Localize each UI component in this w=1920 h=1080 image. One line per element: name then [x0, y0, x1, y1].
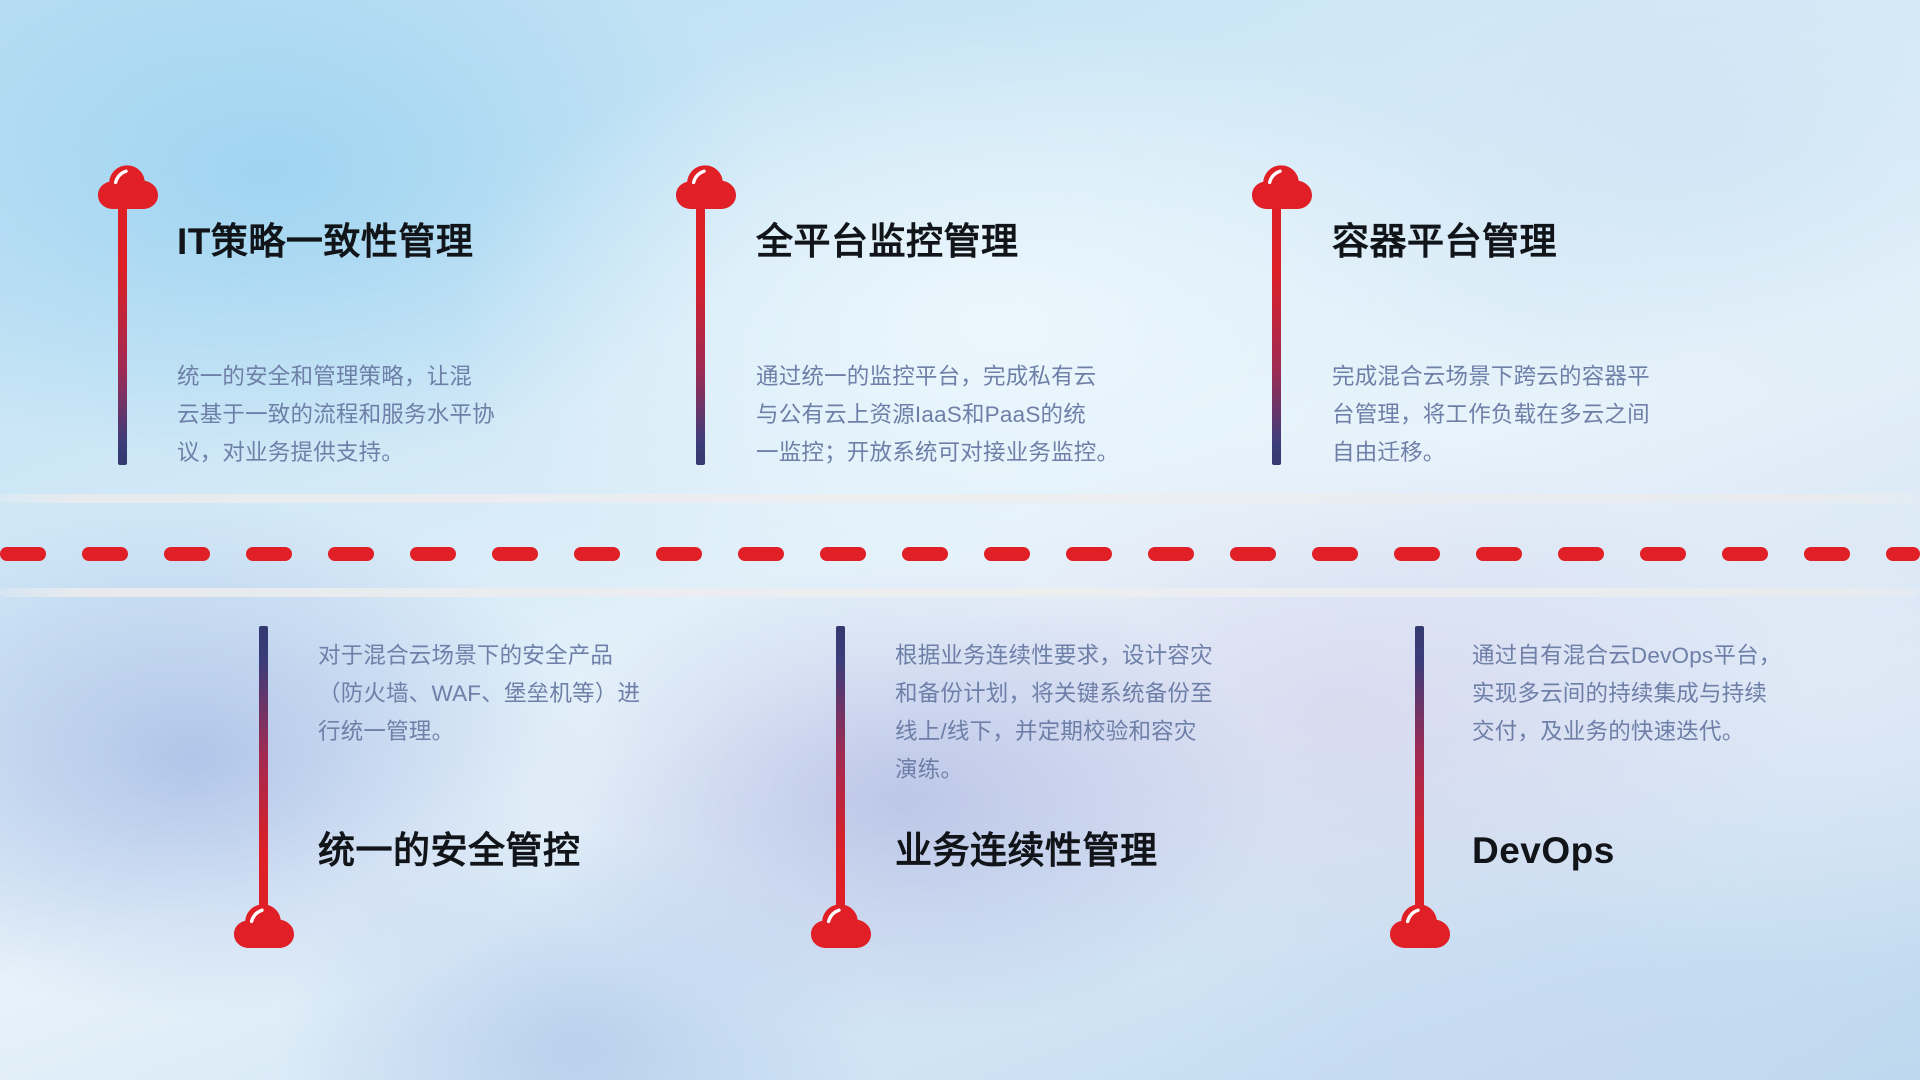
divider-dash-segment [164, 547, 210, 561]
infographic-canvas: IT策略一致性管理 统一的安全和管理策略，让混 云基于一致的流程和服务水平协 议… [0, 0, 1920, 1080]
cloud-icon [1250, 160, 1314, 210]
divider-dash-segment [1558, 547, 1604, 561]
cloud-icon [1388, 899, 1452, 949]
divider-dash-segment [1312, 547, 1358, 561]
card-title: 业务连续性管理 [895, 832, 1158, 869]
card-title: 容器平台管理 [1332, 223, 1557, 260]
divider-dash-segment [410, 547, 456, 561]
divider-dash-segment [738, 547, 784, 561]
divider-dash-segment [1066, 547, 1112, 561]
card-title: DevOps [1472, 832, 1615, 869]
divider-dash-segment [1722, 547, 1768, 561]
divider-dash-segment [246, 547, 292, 561]
card-title: 统一的安全管控 [318, 832, 581, 869]
connector-pole [118, 203, 127, 465]
divider-dash-segment [82, 547, 128, 561]
connector-pole [1415, 626, 1424, 916]
divider-line-top [0, 494, 1920, 503]
divider-dash-segment [984, 547, 1030, 561]
connector-pole [696, 203, 705, 465]
connector-pole [836, 626, 845, 916]
card-title: IT策略一致性管理 [177, 223, 473, 260]
cloud-icon [809, 899, 873, 949]
divider-dash-segment [1476, 547, 1522, 561]
connector-pole [1272, 203, 1281, 465]
card-body: 完成混合云场景下跨云的容器平 台管理，将工作负载在多云之间 自由迁移。 [1332, 358, 1772, 472]
divider-dash-segment [574, 547, 620, 561]
card-body: 通过自有混合云DevOps平台， 实现多云间的持续集成与持续 交付，及业务的快速… [1472, 637, 1902, 751]
divider-dash-segment [492, 547, 538, 561]
card-body: 对于混合云场景下的安全产品 （防火墙、WAF、堡垒机等）进 行统一管理。 [318, 637, 748, 751]
divider-dash-segment [820, 547, 866, 561]
divider-dash-segment [1230, 547, 1276, 561]
cloud-icon [674, 160, 738, 210]
connector-pole [259, 626, 268, 916]
card-body: 根据业务连续性要求，设计容灾 和备份计划，将关键系统备份至 线上/线下，并定期校… [895, 637, 1335, 789]
cloud-icon [96, 160, 160, 210]
divider-dash-segment [328, 547, 374, 561]
divider-dash-segment [1640, 547, 1686, 561]
divider-line-bottom [0, 588, 1920, 597]
card-body: 通过统一的监控平台，完成私有云 与公有云上资源IaaS和PaaS的统 一监控；开… [756, 358, 1206, 472]
divider-dash-segment [656, 547, 702, 561]
card-title: 全平台监控管理 [756, 223, 1019, 260]
divider-dash-segment [1886, 547, 1920, 561]
cloud-icon [232, 899, 296, 949]
divider-dash-segment [1804, 547, 1850, 561]
divider-dash-segment [1148, 547, 1194, 561]
divider-dash-segment [1394, 547, 1440, 561]
divider-dashed-line [0, 546, 1920, 562]
divider-dash-segment [0, 547, 46, 561]
card-body: 统一的安全和管理策略，让混 云基于一致的流程和服务水平协 议，对业务提供支持。 [177, 358, 607, 472]
divider-dash-segment [902, 547, 948, 561]
